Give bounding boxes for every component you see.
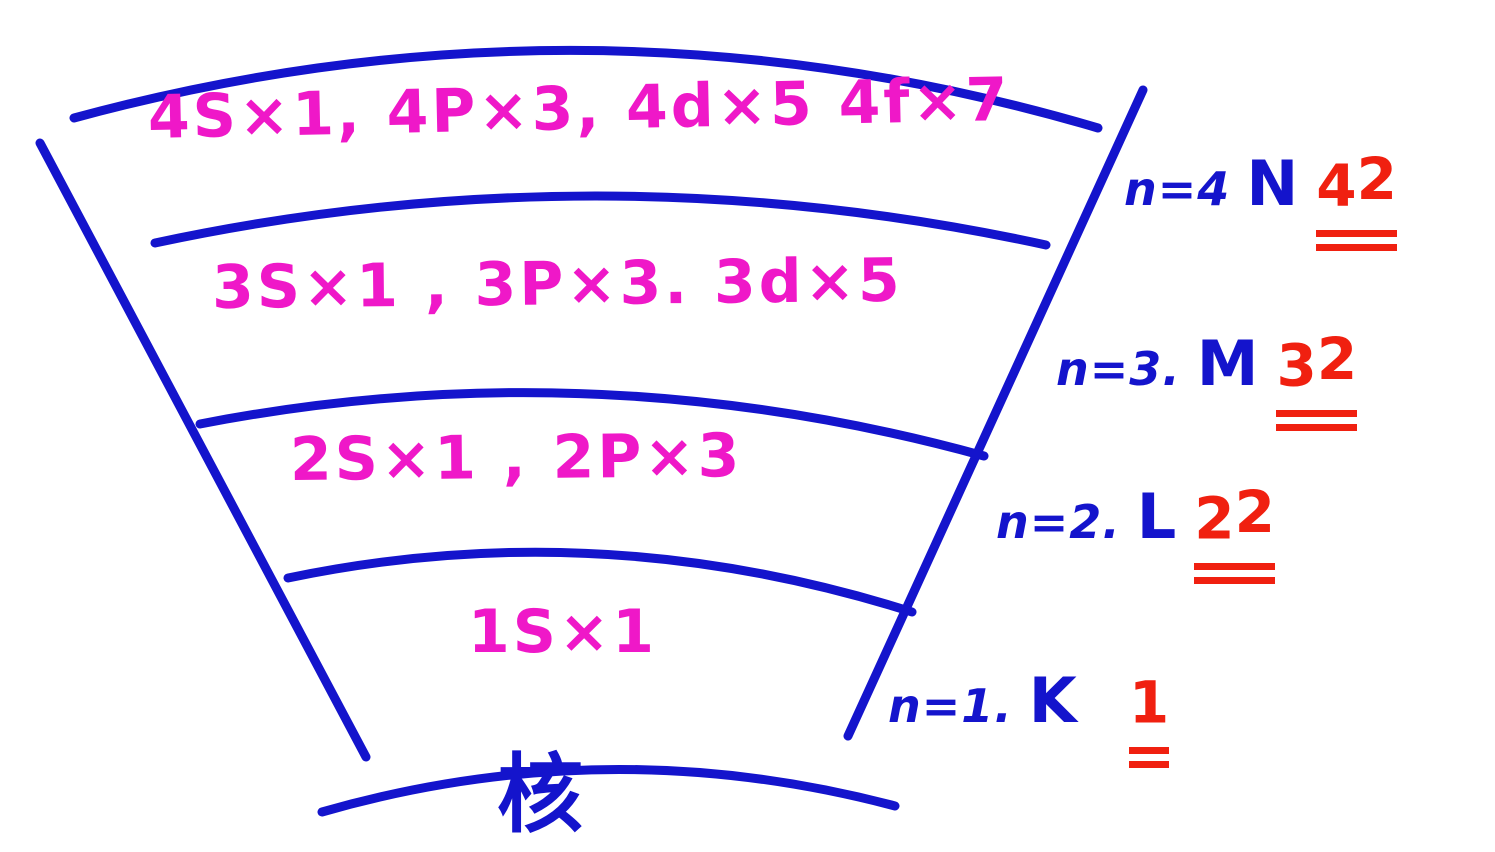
arc-shell-4-inner	[155, 196, 1046, 245]
electron-capacity-base-n4: 4	[1316, 151, 1356, 219]
arc-nucleus	[322, 769, 895, 812]
electron-capacity-n2: 22	[1194, 478, 1275, 554]
arc-shell-3-inner	[200, 393, 984, 456]
shell-label-n4: n=4 N 42	[1124, 145, 1397, 221]
whiteboard-canvas: 4S×1, 4P×3, 4d×5 4f×7 3S×1 , 3P×3. 3d×5 …	[0, 0, 1495, 852]
shell-n-value-n3: n=3.	[1056, 342, 1181, 396]
shell-label-n3: n=3. M 32	[1056, 325, 1357, 401]
underline-upper-n2	[1194, 563, 1275, 570]
underline-lower-n2	[1194, 577, 1275, 584]
electron-capacity-n1: 1	[1129, 662, 1169, 738]
electron-capacity-n4: 42	[1316, 145, 1397, 221]
fan-diagram-strokes	[0, 0, 1495, 852]
underline-lower-n4	[1316, 244, 1397, 251]
electron-capacity-base-n2: 2	[1194, 484, 1234, 552]
underline-upper-n3	[1276, 410, 1357, 417]
shell-letter-n3: M	[1197, 327, 1261, 400]
electron-capacity-exponent-n3: 2	[1317, 325, 1357, 393]
underline-lower-n1	[1129, 761, 1169, 768]
arc-shell-4-outer	[74, 50, 1098, 128]
shell-letter-n2: L	[1137, 480, 1179, 553]
electron-capacity-exponent-n2: 2	[1235, 478, 1275, 546]
shell-letter-n1: K	[1029, 664, 1079, 737]
shell-n-value-n4: n=4	[1124, 162, 1230, 216]
shell-n-value-n1: n=1.	[888, 679, 1013, 733]
electron-capacity-n3: 32	[1276, 325, 1357, 401]
shell-letter-n4: N	[1246, 147, 1300, 220]
electron-capacity-base-n1: 1	[1129, 668, 1169, 736]
electron-capacity-base-n3: 3	[1276, 331, 1316, 399]
shell-n-value-n2: n=2.	[996, 495, 1121, 549]
underline-upper-n1	[1129, 747, 1169, 754]
arc-shell-2-inner	[288, 552, 912, 612]
electron-capacity-exponent-n4: 2	[1357, 145, 1397, 213]
shell-label-n1: n=1. K 1	[888, 662, 1169, 738]
right-radial-line	[848, 90, 1143, 736]
underline-lower-n3	[1276, 424, 1357, 431]
underline-upper-n4	[1316, 230, 1397, 237]
shell-label-n2: n=2. L 22	[996, 478, 1275, 554]
